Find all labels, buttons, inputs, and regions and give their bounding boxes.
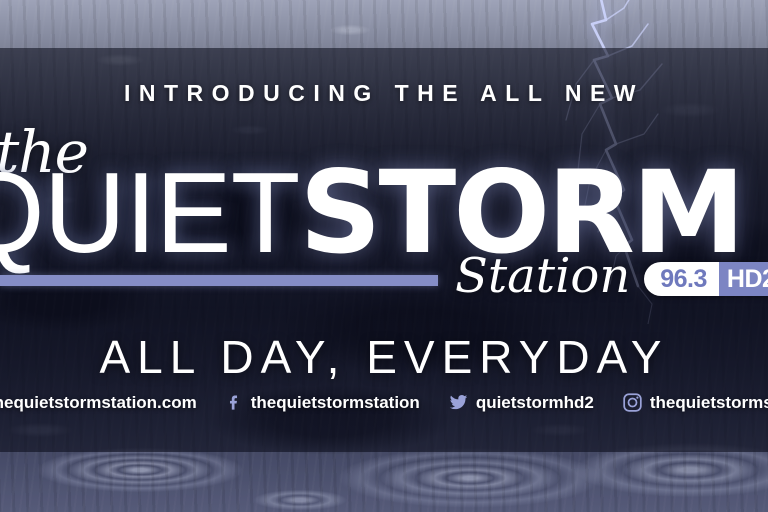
- twitter-handle: quietstormhd2: [476, 393, 594, 413]
- website-handle: thequietstormstation.com: [0, 393, 197, 413]
- facebook-handle: thequietstormstation: [251, 393, 420, 413]
- instagram-handle: thequietstormstation: [650, 393, 768, 413]
- twitter-icon: [448, 393, 469, 412]
- logo-station-word: Station: [455, 248, 630, 304]
- social-link-facebook[interactable]: thequietstormstation: [225, 393, 420, 413]
- social-link-instagram[interactable]: thequietstormstation: [622, 392, 768, 413]
- frequency-badge: 96.3 HD2: [644, 262, 768, 296]
- frequency-number: 96.3: [644, 262, 719, 296]
- eyebrow-text: INTRODUCING THE ALL NEW: [0, 80, 768, 107]
- facebook-icon: [225, 393, 244, 412]
- instagram-icon: [622, 392, 643, 413]
- social-link-twitter[interactable]: quietstormhd2: [448, 393, 594, 413]
- station-frequency-row: Station 96.3 HD2: [455, 248, 768, 304]
- hd-label: HD2: [719, 262, 768, 296]
- accent-rule-bar: [0, 275, 438, 286]
- promo-banner: INTRODUCING THE ALL NEW the QUIETSTORM S…: [0, 0, 768, 512]
- social-links-row: thequietstormstation.com thequietstormst…: [0, 392, 768, 413]
- social-link-website[interactable]: thequietstormstation.com: [0, 393, 197, 413]
- banner-content: INTRODUCING THE ALL NEW the QUIETSTORM S…: [0, 0, 768, 512]
- logo-quiet-word: QUIET: [0, 150, 299, 277]
- tagline-text: ALL DAY, EVERYDAY: [0, 330, 768, 384]
